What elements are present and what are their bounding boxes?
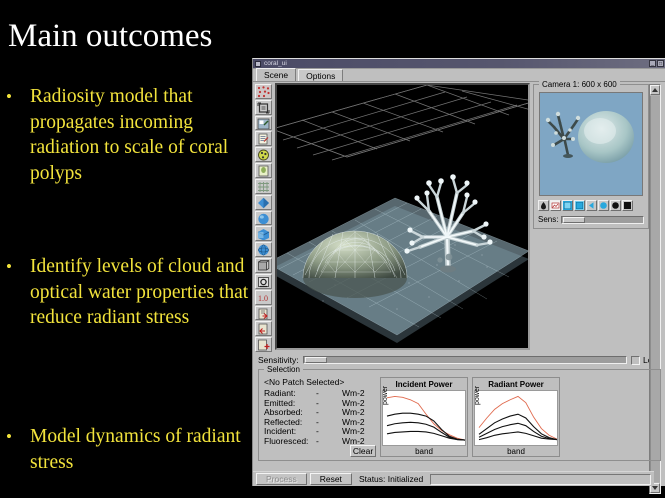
notes-tool[interactable] <box>255 131 272 146</box>
bullet-item: • Model dynamics of radiant stress <box>6 424 256 475</box>
chart-ylabel: power <box>382 386 389 405</box>
no-patch-selected-label: <No Patch Selected> <box>264 377 376 387</box>
chart-title: Radiant Power <box>474 379 558 390</box>
maximize-icon[interactable]: □ <box>657 60 664 67</box>
tab-options[interactable]: Options <box>298 69 343 81</box>
colormap-button-2[interactable] <box>574 200 585 211</box>
page-title: Main outcomes <box>8 18 212 55</box>
measure-tool[interactable]: 1.0 <box>255 290 272 305</box>
sensitivity-slider[interactable] <box>303 356 627 364</box>
sensitivity-thumb[interactable] <box>305 357 327 363</box>
patch-points-tool[interactable] <box>255 84 272 99</box>
main-content-row: 1.0 <box>253 82 665 352</box>
select-box-tool[interactable] <box>255 100 272 115</box>
camera-tool[interactable] <box>255 274 272 289</box>
status-text: Status: Initialized <box>355 474 427 484</box>
chart-series-band-1 <box>479 414 557 439</box>
bullet-marker: • <box>6 424 12 450</box>
bullet-item: • Identify levels of cloud and optical w… <box>6 254 256 331</box>
lock-checkbox[interactable] <box>631 356 640 365</box>
colormap-button-1[interactable] <box>562 200 573 211</box>
sensitivity-label: Sensitivity: <box>258 355 299 365</box>
sphere-tool[interactable] <box>255 211 272 226</box>
diamond-tool[interactable] <box>255 195 272 210</box>
clear-button[interactable]: Clear <box>350 445 376 457</box>
status-bar: Process Reset Status: Initialized <box>253 471 654 486</box>
scrollbar-column <box>649 82 662 352</box>
incident-power-chart: Incident Power power band <box>380 377 468 457</box>
bullet-item: • Radiosity model that propagates incomi… <box>6 84 256 186</box>
snapshot-button[interactable] <box>550 200 561 211</box>
chart-series-total-incident <box>387 396 465 440</box>
row-value: - <box>316 437 342 447</box>
chart-lines <box>383 391 467 445</box>
scene-render <box>277 85 530 348</box>
chart-xlabel: band <box>474 446 558 457</box>
minimize-icon[interactable]: _ <box>649 60 656 67</box>
scroll-up-icon[interactable] <box>650 85 660 95</box>
row-value: - <box>316 418 342 428</box>
chart-series-band-3 <box>387 431 465 440</box>
app-icon <box>255 61 261 67</box>
tab-scene[interactable]: Scene <box>256 68 296 81</box>
bullet-text: Model dynamics of radiant stress <box>30 424 256 475</box>
camera-sens-slider[interactable] <box>561 216 644 224</box>
black-circle-button[interactable] <box>610 200 621 211</box>
window-controls: _ □ <box>649 60 664 67</box>
row-value: - <box>316 389 342 399</box>
bullet-text: Identify levels of cloud and optical wat… <box>30 254 256 331</box>
chart-plot-area: power <box>474 390 558 446</box>
circle-marker-button[interactable] <box>598 200 609 211</box>
black-square-button[interactable] <box>622 200 633 211</box>
chart-lines <box>475 391 559 445</box>
selection-group: Selection <No Patch Selected> Radiant: -… <box>258 369 661 461</box>
svg-text:1.0: 1.0 <box>258 294 268 303</box>
selection-section: Selection <No Patch Selected> Radiant: -… <box>258 369 661 461</box>
export-tool[interactable] <box>255 321 272 336</box>
box-wire-tool[interactable] <box>255 258 272 273</box>
chart-title: Incident Power <box>382 379 466 390</box>
camera-sens-thumb[interactable] <box>563 217 585 223</box>
camera-group: Camera 1: 600 x 600 <box>533 84 649 229</box>
row-value: - <box>316 427 342 437</box>
camera-group-title: Camera 1: 600 x 600 <box>539 80 620 89</box>
row-value: - <box>316 399 342 409</box>
add-tool[interactable] <box>255 337 272 352</box>
camera-sens-label: Sens: <box>538 215 558 224</box>
chart-plot-area: power <box>382 390 466 446</box>
row-label: Fluoresced: <box>264 437 316 447</box>
process-button[interactable]: Process <box>256 473 307 485</box>
import-tool[interactable] <box>255 306 272 321</box>
sphere-mesh-tool[interactable] <box>255 242 272 257</box>
coral-ui-window: coral_ui _ □ Scene Options <box>252 58 665 486</box>
bullet-marker: • <box>6 84 12 110</box>
selection-values: <No Patch Selected> Radiant: - Wm-2 Emit… <box>264 377 376 457</box>
selection-value-table: Radiant: - Wm-2 Emitted: - Wm-2 Absorbed… <box>264 389 372 446</box>
light-tool[interactable] <box>255 163 272 178</box>
camera-button-row <box>538 200 644 211</box>
window-title: coral_ui <box>264 60 287 67</box>
back-arrow-button[interactable] <box>586 200 597 211</box>
slide-canvas: Main outcomes • Radiosity model that pro… <box>0 0 252 498</box>
radiant-power-chart: Radiant Power power band <box>472 377 560 457</box>
bullet-text: Radiosity model that propagates incoming… <box>30 84 256 186</box>
scene-3d-viewport[interactable] <box>275 83 530 350</box>
grid-tool[interactable] <box>255 179 272 194</box>
camera-preview-image[interactable] <box>539 92 643 196</box>
scene-tool-palette: 1.0 <box>253 82 274 352</box>
render-toggle-button[interactable] <box>538 200 549 211</box>
chart-ylabel: power <box>474 386 481 405</box>
edit-scene-tool[interactable] <box>255 116 272 131</box>
bullet-marker: • <box>6 254 12 280</box>
camera-panel: Camera 1: 600 x 600 <box>531 82 649 352</box>
sensitivity-row: Sensitivity: Lock <box>253 352 665 366</box>
palette-tool[interactable] <box>255 147 272 162</box>
progress-bar <box>430 474 651 485</box>
window-titlebar[interactable]: coral_ui _ □ <box>253 59 665 69</box>
camera-sens-row: Sens: <box>538 215 644 224</box>
chart-series-total-radiant <box>479 396 557 439</box>
viewport-container <box>274 82 531 352</box>
selection-group-title: Selection <box>264 365 303 374</box>
reset-button[interactable]: Reset <box>310 473 352 485</box>
row-value: - <box>316 408 342 418</box>
cube-light-tool[interactable] <box>255 226 272 241</box>
chart-xlabel: band <box>382 446 466 457</box>
